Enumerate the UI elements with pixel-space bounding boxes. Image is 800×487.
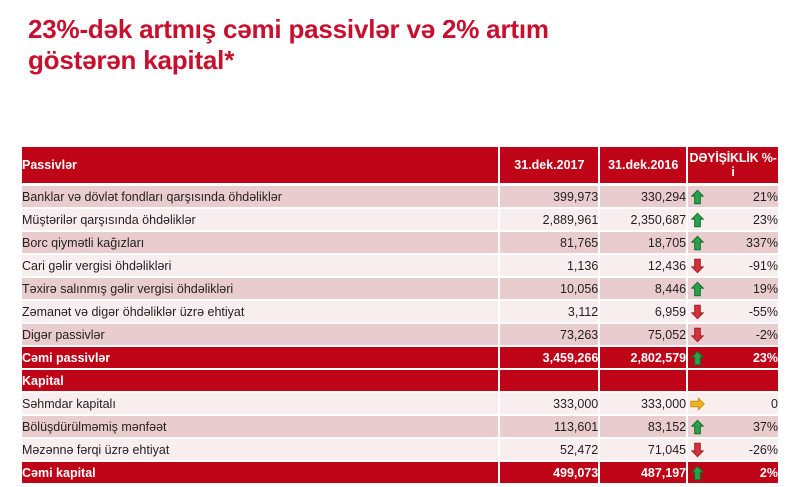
change-percent-text: 21% — [753, 190, 778, 204]
change-percent-text: 0 — [771, 397, 778, 411]
cell-value-2017: 52,472 — [500, 439, 598, 460]
cell-change: 337% — [688, 232, 778, 253]
cell-value-2016: 75,052 — [600, 324, 686, 345]
table-row: Bölüşdürülməmiş mənfəət113,60183,15237% — [22, 416, 778, 437]
cell-value-2016: 12,436 — [600, 255, 686, 276]
cell-value-2016: 2,802,579 — [600, 347, 686, 368]
row-label: Məzənnə fərqi üzrə ehtiyat — [22, 439, 498, 460]
row-label: Zəmanət və digər öhdəliklər üzrə ehtiyat — [22, 301, 498, 322]
table-total-row: Cəmi kapital499,073487,1972% — [22, 462, 778, 483]
change-percent-text: -91% — [749, 259, 778, 273]
table-row: Məzənnə fərqi üzrə ehtiyat52,47271,045-2… — [22, 439, 778, 460]
change-percent-text: -2% — [756, 328, 778, 342]
cell-value-2017: 1,136 — [500, 255, 598, 276]
cell-value-2017: 10,056 — [500, 278, 598, 299]
cell-value-2017: 3,459,266 — [500, 347, 598, 368]
row-label: Cəmi kapital — [22, 462, 498, 483]
column-header-year-2017: 31.dek.2017 — [500, 147, 598, 183]
cell-change: -91% — [688, 255, 778, 276]
cell-value-2017: 333,000 — [500, 393, 598, 414]
liabilities-equity-table: Passivlər31.dek.201731.dek.2016DƏYİŞİKLİ… — [22, 147, 778, 485]
cell-value-2016: 487,197 — [600, 462, 686, 483]
cell-change: -26% — [688, 439, 778, 460]
up-arrow-icon — [689, 188, 705, 205]
table-row: Banklar və dövlət fondları qarşısında öh… — [22, 186, 778, 207]
row-label: Səhmdar kapitalı — [22, 393, 498, 414]
row-label: Bölüşdürülməmiş mənfəət — [22, 416, 498, 437]
cell-value-2016: 333,000 — [600, 393, 686, 414]
change-percent-text: 23% — [753, 213, 778, 227]
change-percent-text: 23% — [753, 351, 778, 365]
change-percent-text: -55% — [749, 305, 778, 319]
cell-value-2017: 499,073 — [500, 462, 598, 483]
column-header-change: DƏYİŞİKLİK %-i — [688, 147, 778, 183]
table-section-row: Kapital — [22, 370, 778, 391]
cell-value-2017: 2,889,961 — [500, 209, 598, 230]
cell-change: 0 — [688, 393, 778, 414]
table-row: Təxirə salınmış gəlir vergisi öhdəliklər… — [22, 278, 778, 299]
table-header-row: Passivlər31.dek.201731.dek.2016DƏYİŞİKLİ… — [22, 147, 778, 183]
row-label: Müştərilər qarşısında öhdəliklər — [22, 209, 498, 230]
up-arrow-icon — [689, 211, 705, 228]
cell-value-2017: 81,765 — [500, 232, 598, 253]
row-separator-cell — [600, 483, 686, 485]
cell-value-2017 — [500, 370, 598, 391]
table-row: Müştərilər qarşısında öhdəliklər2,889,96… — [22, 209, 778, 230]
column-header-year-2016: 31.dek.2016 — [600, 147, 686, 183]
table-total-row: Cəmi passivlər3,459,2662,802,57923% — [22, 347, 778, 368]
row-label: Banklar və dövlət fondları qarşısında öh… — [22, 186, 498, 207]
cell-value-2016: 6,959 — [600, 301, 686, 322]
down-arrow-icon — [689, 257, 705, 274]
change-percent-text: -26% — [749, 443, 778, 457]
row-separator — [22, 483, 778, 485]
cell-change: 23% — [688, 347, 778, 368]
cell-change: 37% — [688, 416, 778, 437]
down-arrow-icon — [689, 303, 705, 320]
up-arrow-icon — [689, 418, 705, 435]
cell-change: -2% — [688, 324, 778, 345]
table-row: Səhmdar kapitalı333,000333,0000 — [22, 393, 778, 414]
cell-change: -55% — [688, 301, 778, 322]
column-header-label: Passivlər — [22, 147, 498, 183]
cell-value-2016: 330,294 — [600, 186, 686, 207]
row-label: Digər passivlər — [22, 324, 498, 345]
cell-change: 2% — [688, 462, 778, 483]
page-title: 23%-dək artmış cəmi passivlər və 2% artı… — [28, 14, 728, 76]
table-row: Borc qiymətli kağızları81,76518,705337% — [22, 232, 778, 253]
change-percent-text: 37% — [753, 420, 778, 434]
row-separator-cell — [22, 483, 498, 485]
page-title-line-1: 23%-dək artmış cəmi passivlər və 2% artı… — [28, 14, 728, 45]
cell-value-2017: 3,112 — [500, 301, 598, 322]
cell-value-2016: 18,705 — [600, 232, 686, 253]
up-arrow-icon — [689, 349, 705, 366]
row-label: Cari gəlir vergisi öhdəlikləri — [22, 255, 498, 276]
cell-value-2017: 399,973 — [500, 186, 598, 207]
table-row: Cari gəlir vergisi öhdəlikləri1,13612,43… — [22, 255, 778, 276]
row-separator-cell — [688, 483, 778, 485]
change-percent-text: 2% — [760, 466, 778, 480]
cell-value-2016: 2,350,687 — [600, 209, 686, 230]
cell-value-2016: 71,045 — [600, 439, 686, 460]
flat-arrow-icon — [689, 395, 705, 412]
down-arrow-icon — [689, 326, 705, 343]
up-arrow-icon — [689, 464, 705, 481]
change-percent-text: 337% — [746, 236, 778, 250]
cell-value-2016: 8,446 — [600, 278, 686, 299]
up-arrow-icon — [689, 234, 705, 251]
cell-value-2016: 83,152 — [600, 416, 686, 437]
cell-change: 23% — [688, 209, 778, 230]
cell-change — [688, 370, 778, 391]
row-label: Cəmi passivlər — [22, 347, 498, 368]
table-row: Digər passivlər73,26375,052-2% — [22, 324, 778, 345]
row-label: Kapital — [22, 370, 498, 391]
cell-value-2017: 113,601 — [500, 416, 598, 437]
cell-change: 19% — [688, 278, 778, 299]
cell-value-2016 — [600, 370, 686, 391]
cell-change: 21% — [688, 186, 778, 207]
page-title-line-2: göstərən kapital* — [28, 45, 728, 76]
cell-value-2017: 73,263 — [500, 324, 598, 345]
row-separator-cell — [500, 483, 598, 485]
row-label: Borc qiymətli kağızları — [22, 232, 498, 253]
change-percent-text: 19% — [753, 282, 778, 296]
down-arrow-icon — [689, 441, 705, 458]
table-row: Zəmanət və digər öhdəliklər üzrə ehtiyat… — [22, 301, 778, 322]
row-label: Təxirə salınmış gəlir vergisi öhdəliklər… — [22, 278, 498, 299]
up-arrow-icon — [689, 280, 705, 297]
